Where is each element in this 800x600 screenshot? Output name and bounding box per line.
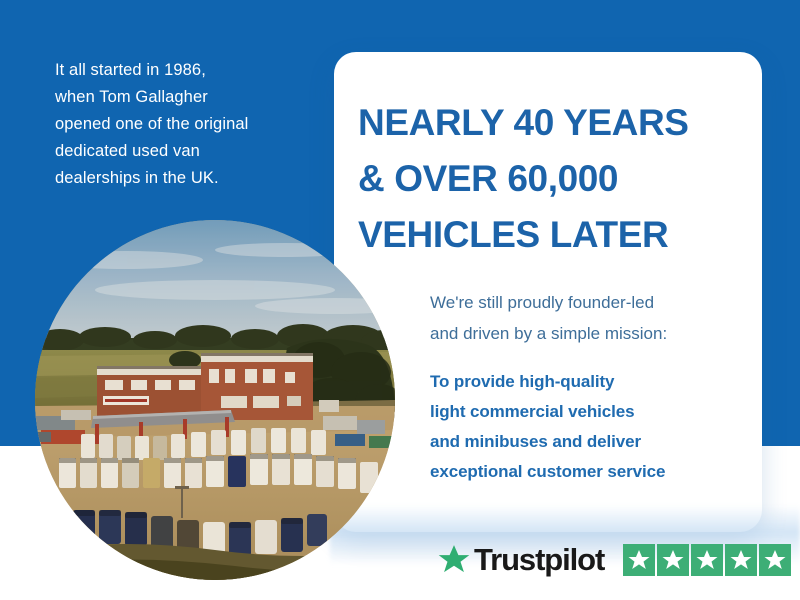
intro-line-2: when Tom Gallagher [55, 84, 315, 111]
star-icon [623, 544, 655, 576]
mission-line-3: and minibuses and deliver [430, 427, 740, 457]
mission-statement: To provide high-quality light commercial… [430, 367, 740, 487]
trustpilot-logo[interactable]: Trustpilot [437, 543, 604, 577]
headline-line-3: VEHICLES LATER [358, 207, 748, 263]
star-icon [657, 544, 689, 576]
intro-line-5: dealerships in the UK. [55, 165, 315, 192]
intro-line-3: opened one of the original [55, 111, 315, 138]
mission-line-2: light commercial vehicles [430, 397, 740, 427]
headline-line-1: NEARLY 40 YEARS [358, 95, 748, 151]
star-icon [759, 544, 791, 576]
page-title: NEARLY 40 YEARS & OVER 60,000 VEHICLES L… [358, 95, 748, 263]
lede-line-2: and driven by a simple mission: [430, 318, 740, 349]
trustpilot-wordmark: Trustpilot [474, 543, 604, 577]
trustpilot-badge[interactable]: Trustpilot [437, 538, 791, 582]
intro-line-1: It all started in 1986, [55, 57, 315, 84]
mission-line-4: exceptional customer service [430, 457, 740, 487]
trustpilot-rating-stars [623, 544, 791, 576]
star-icon [691, 544, 723, 576]
lede-line-1: We're still proudly founder-led [430, 287, 740, 318]
headline-line-2: & OVER 60,000 [358, 151, 748, 207]
mission-line-1: To provide high-quality [430, 367, 740, 397]
promotional-graphic: It all started in 1986, when Tom Gallagh… [0, 0, 800, 600]
star-icon [725, 544, 757, 576]
trustpilot-star-icon [437, 543, 471, 577]
intro-line-4: dedicated used van [55, 138, 315, 165]
lede-text: We're still proudly founder-led and driv… [430, 287, 740, 349]
intro-copy: It all started in 1986, when Tom Gallagh… [55, 57, 315, 192]
dealership-photo [35, 220, 395, 580]
